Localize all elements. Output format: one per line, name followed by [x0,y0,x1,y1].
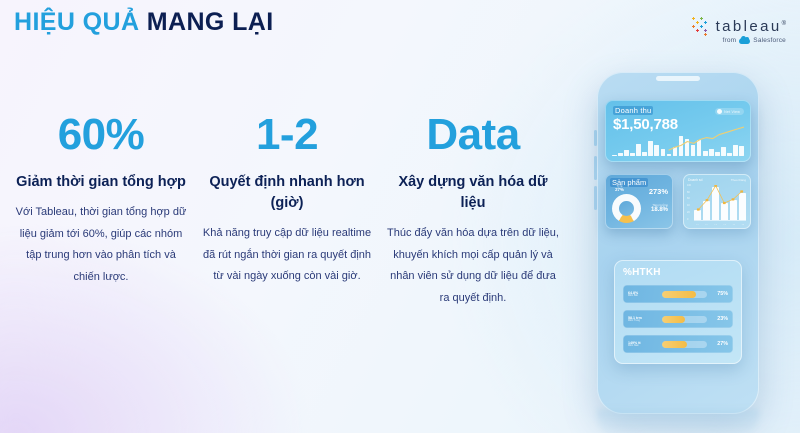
revenue-card[interactable]: Doanh thu $1,50,788 Net View [605,100,751,162]
kpi-row-percent: 23% [711,316,728,322]
revenue-card-label: Doanh thu [613,106,653,115]
salesforce-cloud-icon [739,38,750,44]
stat-number: 60% [14,112,188,158]
product-secondary-label: Tăng trưởng [651,204,668,207]
product-secondary-stat: Tăng trưởng 18.8% [651,204,668,215]
stat-number: Data [386,112,560,158]
badge-dot-icon [717,109,722,114]
page-title-rest: MANG LẠI [147,8,274,36]
kpi-progress-fill [662,341,687,348]
sales-marker [714,185,717,187]
stat-body: Thúc đẩy văn hóa dựa trên dữ liệu, khuyế… [386,223,560,309]
salesforce-label: Salesforce [753,37,786,44]
revenue-trend-line [612,126,744,156]
tableau-logo: tableau® from Salesforce [691,16,786,44]
phone-mockup: Doanh thu $1,50,788 Net View Sản phẩm 27… [597,72,759,414]
stats-row: 60% Giảm thời gian tổng hợp Với Tableau,… [8,112,568,309]
phone-screen: Doanh thu $1,50,788 Net View Sản phẩm 27… [597,72,759,414]
kpi-row-percent: 27% [711,341,728,347]
kpi-progress-fill [662,291,696,298]
sales-marker [740,190,743,192]
kpi-row-subtitle: Miền Bắc [628,295,658,298]
sales-marker [732,198,735,200]
kpi-row-percent: 75% [711,291,728,297]
sales-y-tick: 80 [687,192,691,194]
sales-trend-line [694,185,746,221]
sales-card-title: Doanh số [688,178,703,182]
kpi-row-labels: 149% ttMiền Nam [628,341,658,348]
sales-x-tick: T2 [703,224,710,226]
sales-y-tick: 0 [687,219,691,221]
kpi-card-title: %HTKH [623,267,661,278]
kpi-row-subtitle: Miền Nam [628,345,658,348]
sales-y-axis: 100806040200 [687,185,691,221]
sales-x-tick: T1 [694,224,701,226]
stat-column-3: Data Xây dựng văn hóa dữ liệu Thúc đẩy v… [380,112,566,309]
stat-heading: Giảm thời gian tổng hợp [14,172,188,193]
kpi-progress-track [662,316,707,323]
sales-x-tick: T6 [739,224,746,226]
stat-column-2: 1-2 Quyết định nhanh hơn (giờ) Khả năng … [194,112,380,309]
sales-marker [697,208,700,210]
kpi-row-labels: 64.8%Miền Bắc [628,291,658,298]
sales-marker [723,202,726,204]
kpi-row[interactable]: 58.1 trmMiền Trung23% [623,310,733,328]
kpi-row-subtitle: Miền Trung [628,320,658,323]
sales-x-tick: T4 [721,224,728,226]
phone-reflection [597,409,759,433]
tableau-wordmark: tableau® [716,18,786,35]
stat-heading: Quyết định nhanh hơn (giờ) [200,172,374,214]
from-label: from [722,37,736,44]
badge-label: Net View [724,110,740,114]
sales-x-tick: T3 [712,224,719,226]
product-card-value: 273% [649,187,668,196]
kpi-row-labels: 58.1 trmMiền Trung [628,316,658,323]
kpi-progress-track [662,341,707,348]
stat-body: Khả năng truy cập dữ liệu realtime đã rú… [200,223,374,287]
kpi-row[interactable]: 64.8%Miền Bắc75% [623,285,733,303]
sales-y-tick: 20 [687,212,691,214]
revenue-card-badge[interactable]: Net View [715,108,744,115]
stat-column-1: 60% Giảm thời gian tổng hợp Với Tableau,… [8,112,194,309]
salesforce-byline: from Salesforce [691,37,786,44]
sales-x-axis: T1T2T3T4T5T6 [694,224,746,226]
trademark-symbol: ® [782,21,786,27]
donut-center-text: Tỷ lệ 27% [605,174,634,203]
kpi-progress-fill [662,316,685,323]
sales-bar-card[interactable]: Doanh số Theo tháng 100806040200 T1T2T3T… [683,174,751,229]
donut-center-label: Tỷ lệ [616,185,622,188]
stat-number: 1-2 [200,112,374,158]
kpi-progress-card[interactable]: %HTKH 64.8%Miền Bắc75%58.1 trmMiền Trung… [614,260,742,364]
tableau-mark-icon [691,16,711,36]
page-title: HIỆU QUẢ MANG LẠI [14,8,274,37]
kpi-rows: 64.8%Miền Bắc75%58.1 trmMiền Trung23%149… [623,285,733,360]
sales-y-tick: 100 [687,185,691,187]
sales-marker [706,199,709,201]
product-card[interactable]: Sản phẩm 273% Tỷ lệ 27% Tăng trưởng 18.8… [605,174,673,229]
page-title-highlight: HIỆU QUẢ [14,8,139,36]
sales-y-tick: 40 [687,205,691,207]
stat-body: Với Tableau, thời gian tổng hợp dữ liệu … [14,202,188,288]
stat-heading: Xây dựng văn hóa dữ liệu [386,172,560,214]
product-secondary-value: 18.8% [651,207,668,214]
sales-card-legend: Theo tháng [731,178,746,182]
sales-x-tick: T5 [730,224,737,226]
kpi-row[interactable]: 149% ttMiền Nam27% [623,335,733,353]
donut-center-value: 27% [615,188,624,193]
kpi-progress-track [662,291,707,298]
sales-y-tick: 60 [687,198,691,200]
